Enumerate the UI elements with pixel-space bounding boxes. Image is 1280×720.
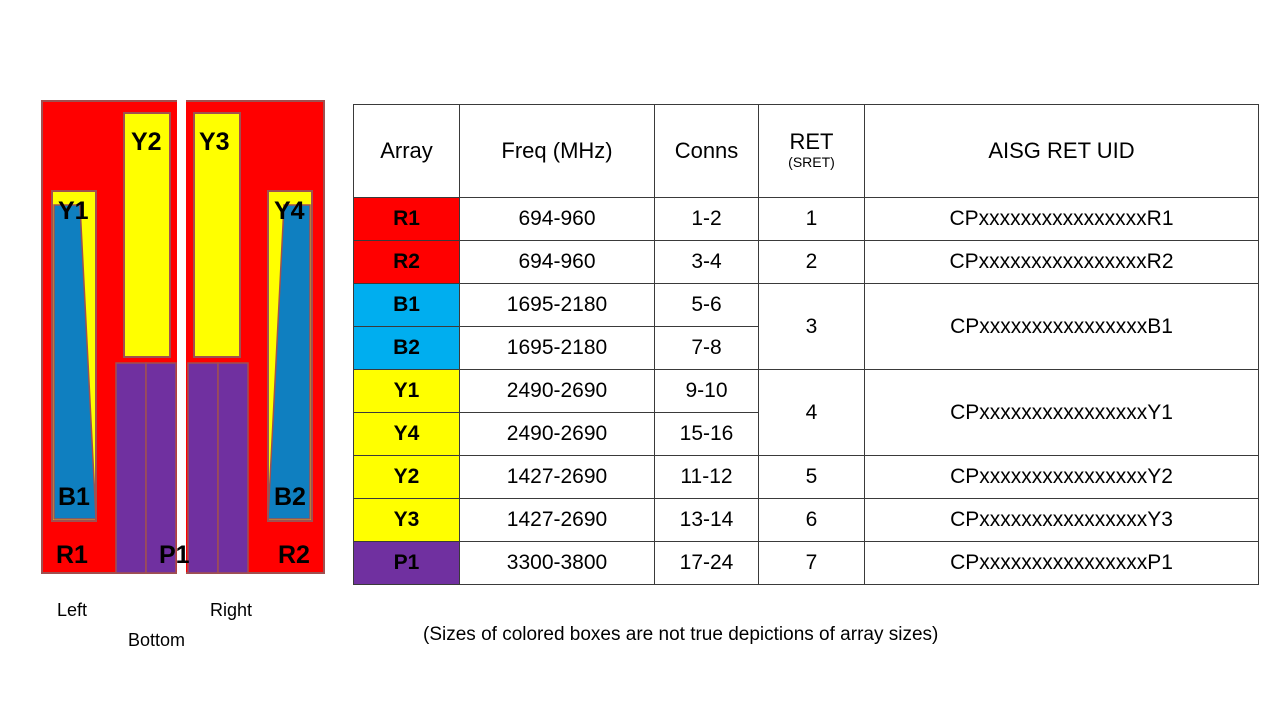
orientation-label-right: Right — [210, 600, 252, 621]
cell-array: R1 — [354, 198, 460, 241]
cell-freq: 1427-2690 — [460, 456, 655, 499]
cell-freq: 694-960 — [460, 198, 655, 241]
header-array: Array — [354, 105, 460, 198]
header-ret-main: RET — [790, 129, 834, 154]
cell-array: P1 — [354, 542, 460, 585]
cell-conns: 1-2 — [655, 198, 759, 241]
array-label-r1: R1 — [56, 541, 88, 569]
cell-conns: 9-10 — [655, 370, 759, 413]
cell-array: Y4 — [354, 413, 460, 456]
table-row: P13300-380017-247CPxxxxxxxxxxxxxxxxP1 — [354, 542, 1259, 585]
cell-array: Y2 — [354, 456, 460, 499]
cell-uid: CPxxxxxxxxxxxxxxxxY1 — [865, 370, 1259, 456]
cell-ret: 5 — [759, 456, 865, 499]
cell-uid: CPxxxxxxxxxxxxxxxxB1 — [865, 284, 1259, 370]
array-label-b1: B1 — [58, 483, 90, 511]
array-shape-p1-strip-3 — [188, 363, 218, 573]
table-row: R1694-9601-21CPxxxxxxxxxxxxxxxxR1 — [354, 198, 1259, 241]
table-note: (Sizes of colored boxes are not true dep… — [423, 624, 938, 646]
header-uid: AISG RET UID — [865, 105, 1259, 198]
header-freq: Freq (MHz) — [460, 105, 655, 198]
array-label-y1: Y1 — [58, 197, 89, 225]
table-row: Y31427-269013-146CPxxxxxxxxxxxxxxxxY3 — [354, 499, 1259, 542]
cell-conns: 15-16 — [655, 413, 759, 456]
cell-freq: 3300-3800 — [460, 542, 655, 585]
cell-uid: CPxxxxxxxxxxxxxxxxY3 — [865, 499, 1259, 542]
cell-uid: CPxxxxxxxxxxxxxxxxY2 — [865, 456, 1259, 499]
cell-array: B1 — [354, 284, 460, 327]
table-row: Y12490-26909-104CPxxxxxxxxxxxxxxxxY1 — [354, 370, 1259, 413]
orientation-label-left: Left — [57, 600, 87, 621]
cell-conns: 17-24 — [655, 542, 759, 585]
cell-ret: 2 — [759, 241, 865, 284]
cell-array: R2 — [354, 241, 460, 284]
table-row: Y21427-269011-125CPxxxxxxxxxxxxxxxxY2 — [354, 456, 1259, 499]
cell-conns: 3-4 — [655, 241, 759, 284]
cell-conns: 5-6 — [655, 284, 759, 327]
cell-ret: 1 — [759, 198, 865, 241]
header-conns: Conns — [655, 105, 759, 198]
cell-ret: 4 — [759, 370, 865, 456]
orientation-label-bottom: Bottom — [128, 630, 185, 651]
cell-ret: 3 — [759, 284, 865, 370]
panel-gap — [177, 97, 186, 579]
array-label-y4: Y4 — [274, 197, 305, 225]
antenna-array-diagram: Y2 Y3 Y1 Y4 B1 B2 R1 P1 R2 — [36, 95, 336, 585]
cell-freq: 694-960 — [460, 241, 655, 284]
cell-conns: 7-8 — [655, 327, 759, 370]
cell-array: Y3 — [354, 499, 460, 542]
aisg-ret-uid-table: Array Freq (MHz) Conns RET (SRET) AISG R… — [353, 104, 1259, 585]
array-label-b2: B2 — [274, 483, 306, 511]
table-header-row: Array Freq (MHz) Conns RET (SRET) AISG R… — [354, 105, 1259, 198]
cell-array: B2 — [354, 327, 460, 370]
header-ret-sub: (SRET) — [759, 154, 864, 172]
cell-freq: 2490-2690 — [460, 370, 655, 413]
table-row: R2694-9603-42CPxxxxxxxxxxxxxxxxR2 — [354, 241, 1259, 284]
array-label-y3: Y3 — [199, 128, 230, 156]
cell-ret: 7 — [759, 542, 865, 585]
cell-freq: 2490-2690 — [460, 413, 655, 456]
cell-uid: CPxxxxxxxxxxxxxxxxR1 — [865, 198, 1259, 241]
table-row: B11695-21805-63CPxxxxxxxxxxxxxxxxB1 — [354, 284, 1259, 327]
array-shape-p1-strip-1 — [116, 363, 146, 573]
cell-freq: 1695-2180 — [460, 327, 655, 370]
cell-array: Y1 — [354, 370, 460, 413]
cell-conns: 13-14 — [655, 499, 759, 542]
cell-freq: 1695-2180 — [460, 284, 655, 327]
cell-ret: 6 — [759, 499, 865, 542]
table-body: R1694-9601-21CPxxxxxxxxxxxxxxxxR1R2694-9… — [354, 198, 1259, 585]
antenna-diagram-panel: Y2 Y3 Y1 Y4 B1 B2 R1 P1 R2 Left Right Bo… — [0, 0, 350, 720]
array-label-r2: R2 — [278, 541, 310, 569]
array-label-y2: Y2 — [131, 128, 162, 156]
array-label-p1: P1 — [159, 541, 190, 569]
header-ret: RET (SRET) — [759, 105, 865, 198]
cell-conns: 11-12 — [655, 456, 759, 499]
cell-uid: CPxxxxxxxxxxxxxxxxR2 — [865, 241, 1259, 284]
array-shape-p1-strip-4 — [218, 363, 248, 573]
cell-uid: CPxxxxxxxxxxxxxxxxP1 — [865, 542, 1259, 585]
cell-freq: 1427-2690 — [460, 499, 655, 542]
